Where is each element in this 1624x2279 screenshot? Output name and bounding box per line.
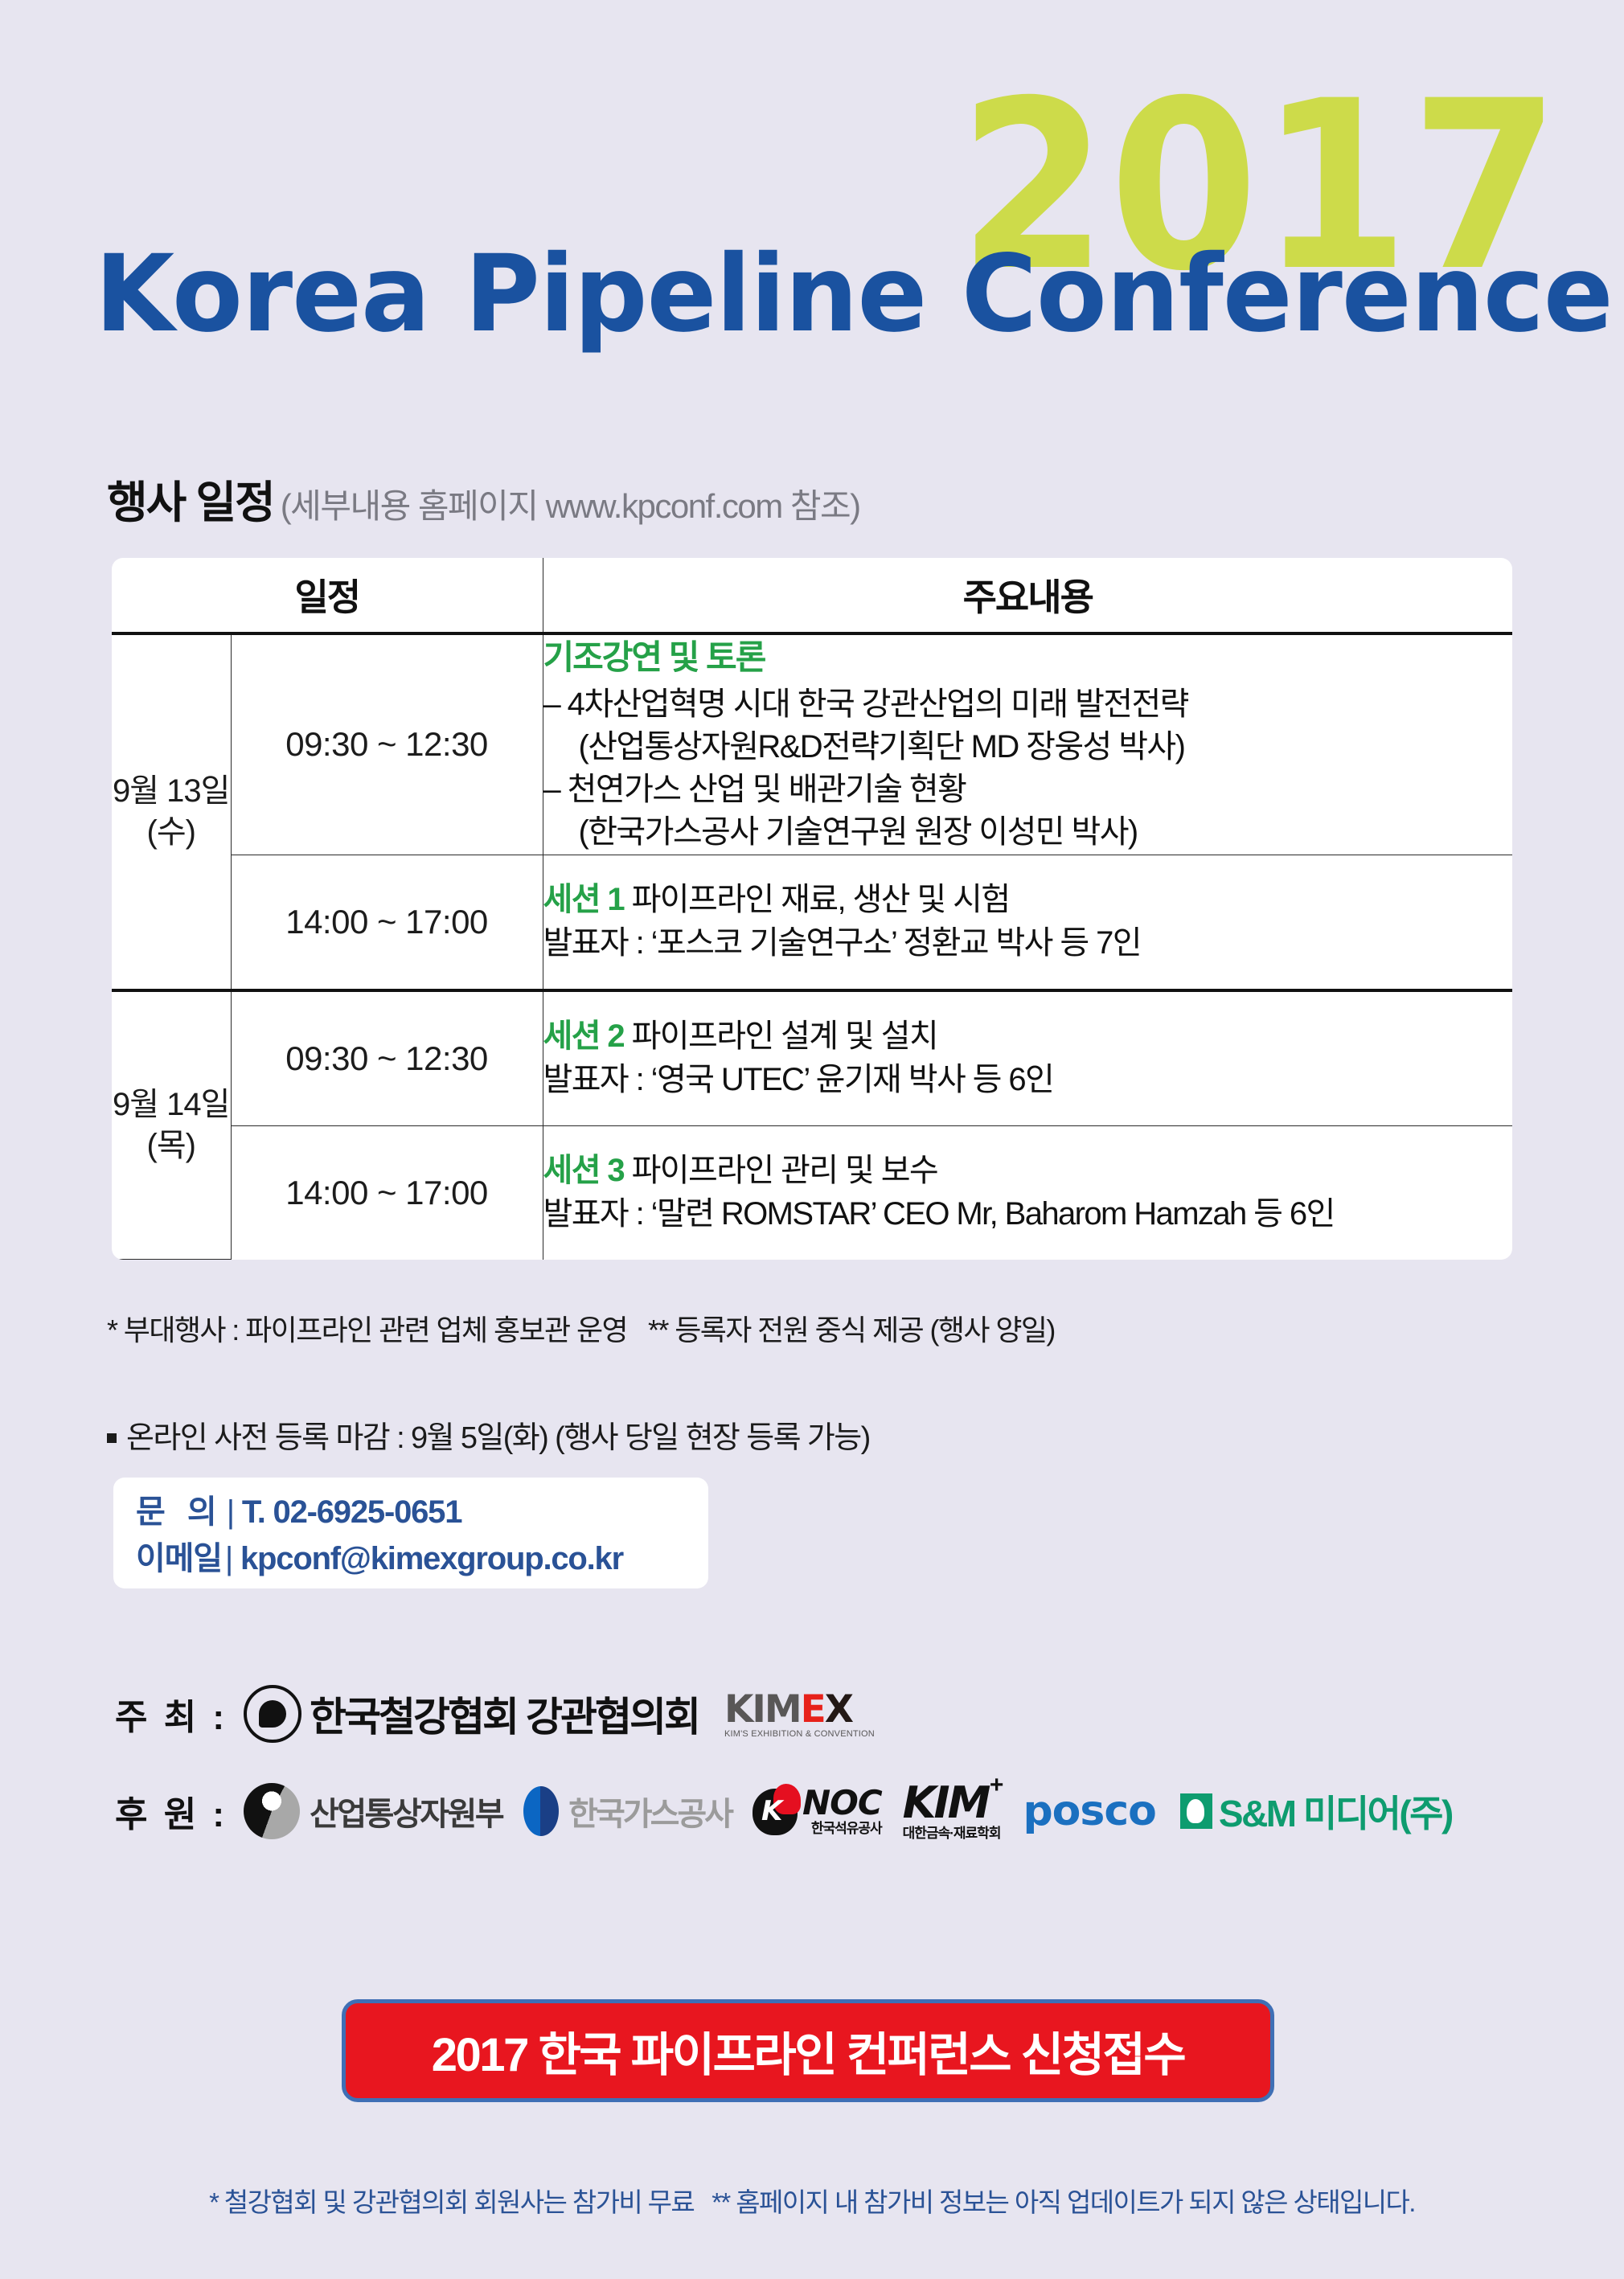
session-line: 세션 2 파이프라인 설계 및 설치: [543, 1015, 1512, 1058]
day-name-text: (수): [112, 812, 231, 853]
note-lunch-text: ** 등록자 전원 중식 제공 (행사 양일): [648, 1314, 1055, 1346]
sponsor-row: 후 원 : 산업통상자원부 한국가스공사 NOC 한국석유공사 KIM+ 대한금…: [115, 1781, 1452, 1840]
session-title: 파이프라인 관리 및 보수: [632, 1153, 938, 1188]
table-row: 9월 14일 (목) 09:30 ~ 12:30 세션 2 파이프라인 설계 및…: [112, 990, 1512, 1126]
kim-plus-icon: +: [990, 1773, 1004, 1797]
kim-name: KIM: [903, 1777, 989, 1828]
host-label: 주 최 :: [115, 1688, 228, 1740]
column-header-content: 주요내용: [543, 558, 1512, 633]
registration-cta-button[interactable]: 2017 한국 파이프라인 컨퍼런스 신청접수: [342, 1999, 1274, 2102]
kimex-logo: KIMEX KIM'S EXHIBITION & CONVENTION: [724, 1691, 875, 1739]
contact-phone-line: 문 의|T. 02-6925-0651: [136, 1489, 708, 1535]
contact-phone-label: 문 의: [136, 1494, 224, 1530]
content-cell-keynote: 기조강연 및 토론 – 4차산업혁명 시대 한국 강관산업의 미래 발전전략 (…: [543, 633, 1512, 855]
kimex-wordmark: KIMEX: [724, 1687, 852, 1732]
date-cell-sep13: 9월 13일 (수): [112, 633, 231, 990]
note-extra-event-text: * 부대행사 : 파이프라인 관련 업체 홍보관 운영: [107, 1314, 627, 1346]
kimex-e: E: [801, 1687, 825, 1732]
contact-box: 문 의|T. 02-6925-0651 이메일|kpconf@kimexgrou…: [113, 1478, 708, 1588]
schedule-heading-strong: 행사 일정: [107, 478, 274, 527]
session-title: 파이프라인 설계 및 설치: [632, 1019, 938, 1054]
knoc-logo: NOC 한국석유공사: [753, 1786, 882, 1835]
kisa-seal-icon: [244, 1685, 301, 1743]
snm-name: S&M 미디어(주): [1219, 1785, 1452, 1838]
table-row: 9월 13일 (수) 09:30 ~ 12:30 기조강연 및 토론 – 4차산…: [112, 633, 1512, 855]
knoc-subtitle: 한국석유공사: [802, 1822, 882, 1835]
table-row: 14:00 ~ 17:00 세션 3 파이프라인 관리 및 보수 발표자 : ‘…: [112, 1125, 1512, 1260]
footer-note-1: * 철강협회 및 강관협의회 회원사는 참가비 무료: [209, 2187, 694, 2217]
table-row: 14:00 ~ 17:00 세션 1 파이프라인 재료, 생산 및 시험 발표자…: [112, 855, 1512, 990]
knoc-k-icon: [753, 1789, 798, 1835]
content-cell-session-2: 세션 2 파이프라인 설계 및 설치 발표자 : ‘영국 UTEC’ 윤기재 박…: [543, 990, 1512, 1126]
schedule-table-card: 일정 주요내용 9월 13일 (수) 09:30 ~ 12:30 기조강연 및 …: [112, 558, 1512, 1260]
note-registration: 온라인 사전 등록 마감 : 9월 5일(화) (행사 당일 현장 등록 가능): [107, 1412, 870, 1457]
content-cell-session-1: 세션 1 파이프라인 재료, 생산 및 시험 발표자 : ‘포스코 기술연구소’…: [543, 855, 1512, 990]
keynote-line-1: – 4차산업혁명 시대 한국 강관산업의 미래 발전전략: [543, 683, 1512, 726]
kogas-name: 한국가스공사: [568, 1788, 732, 1834]
kimex-kim: KIM: [724, 1687, 801, 1732]
day-name-text: (목): [112, 1125, 231, 1166]
contact-separator: |: [225, 1541, 232, 1576]
host-organization-name: 한국철강협회 강관협의회: [310, 1685, 699, 1743]
posco-logo: posco: [1023, 1787, 1155, 1835]
sponsor-label: 후 원 :: [115, 1785, 228, 1837]
kim-logo: KIM+ 대한금속·재료학회: [903, 1781, 1001, 1840]
session-line: 세션 3 파이프라인 관리 및 보수: [543, 1150, 1512, 1192]
page-title: Korea Pipeline Conference: [95, 241, 1613, 347]
knoc-text-block: NOC 한국석유공사: [802, 1786, 882, 1835]
schedule-table: 일정 주요내용 9월 13일 (수) 09:30 ~ 12:30 기조강연 및 …: [112, 558, 1512, 1260]
session-label: 세션 3: [543, 1153, 625, 1188]
time-cell: 14:00 ~ 17:00: [231, 1125, 543, 1260]
session-label: 기조강연 및 토론: [543, 635, 1512, 680]
host-row: 주 최 : 한국철강협회 강관협의회 KIMEX KIM'S EXHIBITIO…: [115, 1685, 875, 1743]
poster-hero: 2017 Korea Pipeline Conference: [0, 0, 1624, 438]
session-title: 파이프라인 재료, 생산 및 시험: [632, 882, 1010, 917]
taegeuk-icon: [244, 1783, 300, 1839]
knoc-name: NOC: [802, 1786, 882, 1820]
note-registration-text: 온라인 사전 등록 마감 : 9월 5일(화) (행사 당일 현장 등록 가능): [126, 1421, 870, 1455]
session-label: 세션 2: [543, 1019, 625, 1054]
date-text: 9월 13일: [112, 771, 231, 812]
keynote-line-3: – 천연가스 산업 및 배관기술 현황: [543, 769, 1512, 811]
registration-cta-label: 2017 한국 파이프라인 컨퍼런스 신청접수: [432, 2017, 1184, 2084]
date-cell-sep14: 9월 14일 (목): [112, 990, 231, 1260]
footer-note-2: ** 홈페이지 내 참가비 정보는 아직 업데이트가 되지 않은 상태입니다.: [712, 2187, 1415, 2217]
contact-phone-value[interactable]: T. 02-6925-0651: [242, 1494, 461, 1530]
schedule-heading: 행사 일정(세부내용 홈페이지 www.kpconf.com 참조): [107, 481, 860, 525]
content-cell-session-3: 세션 3 파이프라인 관리 및 보수 발표자 : ‘말련 ROMSTAR’ CE…: [543, 1125, 1512, 1260]
contact-email-label: 이메일: [136, 1541, 222, 1576]
note-extra-events: * 부대행사 : 파이프라인 관련 업체 홍보관 운영** 등록자 전원 중식 …: [107, 1307, 1055, 1349]
snm-mark-icon: [1180, 1793, 1212, 1829]
session-label: 세션 1: [543, 882, 625, 917]
date-text: 9월 14일: [112, 1084, 231, 1125]
time-cell: 09:30 ~ 12:30: [231, 990, 543, 1126]
schedule-heading-sub: (세부내용 홈페이지 www.kpconf.com 참조): [281, 487, 860, 525]
contact-email-line: 이메일|kpconf@kimexgroup.co.kr: [136, 1535, 708, 1582]
keynote-line-2: (산업통상자원R&D전략기획단 MD 장웅성 박사): [543, 726, 1512, 769]
kimex-x: X: [825, 1687, 852, 1732]
time-cell: 09:30 ~ 12:30: [231, 633, 543, 855]
session-line: 세션 1 파이프라인 재료, 생산 및 시험: [543, 879, 1512, 921]
motie-logo: 산업통상자원부: [244, 1783, 502, 1839]
kim-subtitle: 대한금속·재료학회: [903, 1826, 1001, 1840]
contact-separator: |: [227, 1494, 234, 1530]
session-presenter: 발표자 : ‘영국 UTEC’ 윤기재 박사 등 6인: [543, 1059, 1512, 1101]
session-presenter: 발표자 : ‘포스코 기술연구소’ 정환교 박사 등 7인: [543, 922, 1512, 965]
kogas-logo: 한국가스공사: [523, 1786, 732, 1836]
motie-name: 산업통상자원부: [310, 1788, 502, 1834]
keynote-line-4: (한국가스공사 기술연구원 원장 이성민 박사): [543, 811, 1512, 854]
session-presenter: 발표자 : ‘말련 ROMSTAR’ CEO Mr, Baharom Hamza…: [543, 1193, 1512, 1236]
square-bullet-icon: [107, 1433, 117, 1443]
column-header-schedule: 일정: [112, 558, 543, 633]
table-header-row: 일정 주요내용: [112, 558, 1512, 633]
kogas-flame-icon: [523, 1786, 559, 1836]
snm-media-logo: S&M 미디어(주): [1180, 1785, 1452, 1838]
footer-note: * 철강협회 및 강관협의회 회원사는 참가비 무료** 홈페이지 내 참가비 …: [0, 2181, 1624, 2220]
contact-email-value[interactable]: kpconf@kimexgroup.co.kr: [240, 1541, 623, 1576]
kimex-tagline: KIM'S EXHIBITION & CONVENTION: [724, 1730, 875, 1739]
time-cell: 14:00 ~ 17:00: [231, 855, 543, 990]
